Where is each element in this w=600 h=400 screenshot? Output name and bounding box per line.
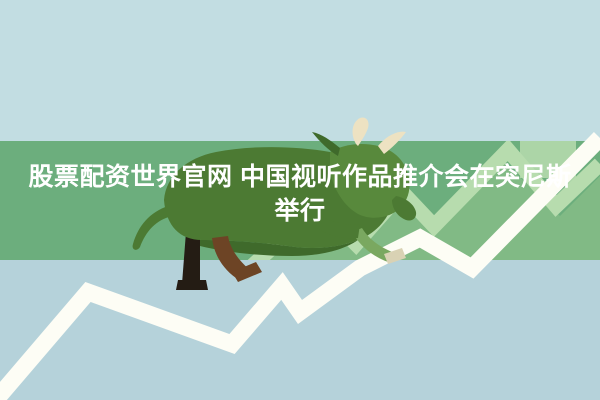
headline-text: 股票配资世界官网 中国视听作品推介会在突尼斯举行: [29, 163, 572, 225]
page-title: 股票配资世界官网 中国视听作品推介会在突尼斯举行: [0, 160, 600, 228]
bull-hoof-hind-far: [176, 280, 208, 290]
article-cover-image: 股票配资世界官网 中国视听作品推介会在突尼斯举行: [0, 0, 600, 400]
bull-horn-right: [378, 132, 406, 154]
bull-hind-leg-far: [182, 232, 200, 286]
bull-horn-left: [353, 118, 369, 146]
